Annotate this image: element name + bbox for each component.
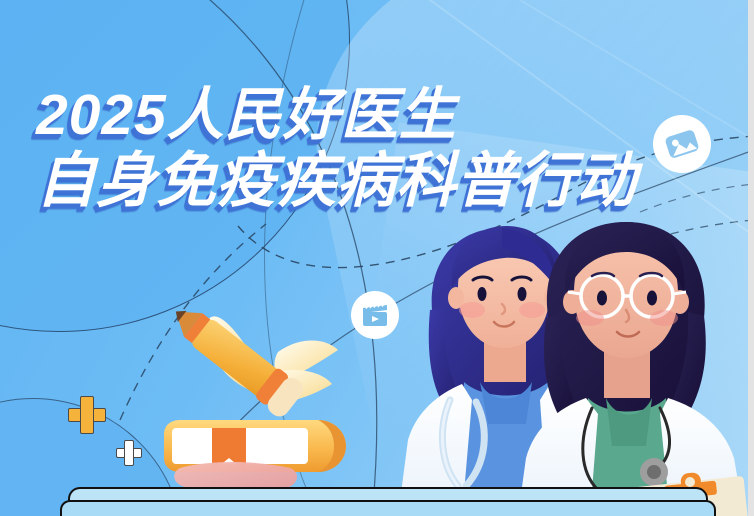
winged-pencil-and-book-illustration [150, 300, 360, 500]
title-line-1: 2025人民好医生 [36, 86, 636, 144]
desk-body [60, 500, 716, 516]
white-plus-cross-icon [116, 440, 140, 464]
video-clapperboard-play-icon[interactable] [351, 291, 399, 339]
doctors-illustration [398, 214, 754, 516]
desk-top-edge [68, 487, 708, 501]
campaign-banner: 2025人民好医生 自身免疫疾病科普行动 [0, 0, 754, 516]
photo-image-icon[interactable] [653, 115, 711, 173]
title-line-2: 自身免疫疾病科普行动 [36, 150, 636, 211]
bottom-desk-counter [68, 487, 708, 516]
gold-plus-cross-icon [68, 396, 104, 432]
banner-title: 2025人民好医生 自身免疫疾病科普行动 [36, 86, 636, 211]
